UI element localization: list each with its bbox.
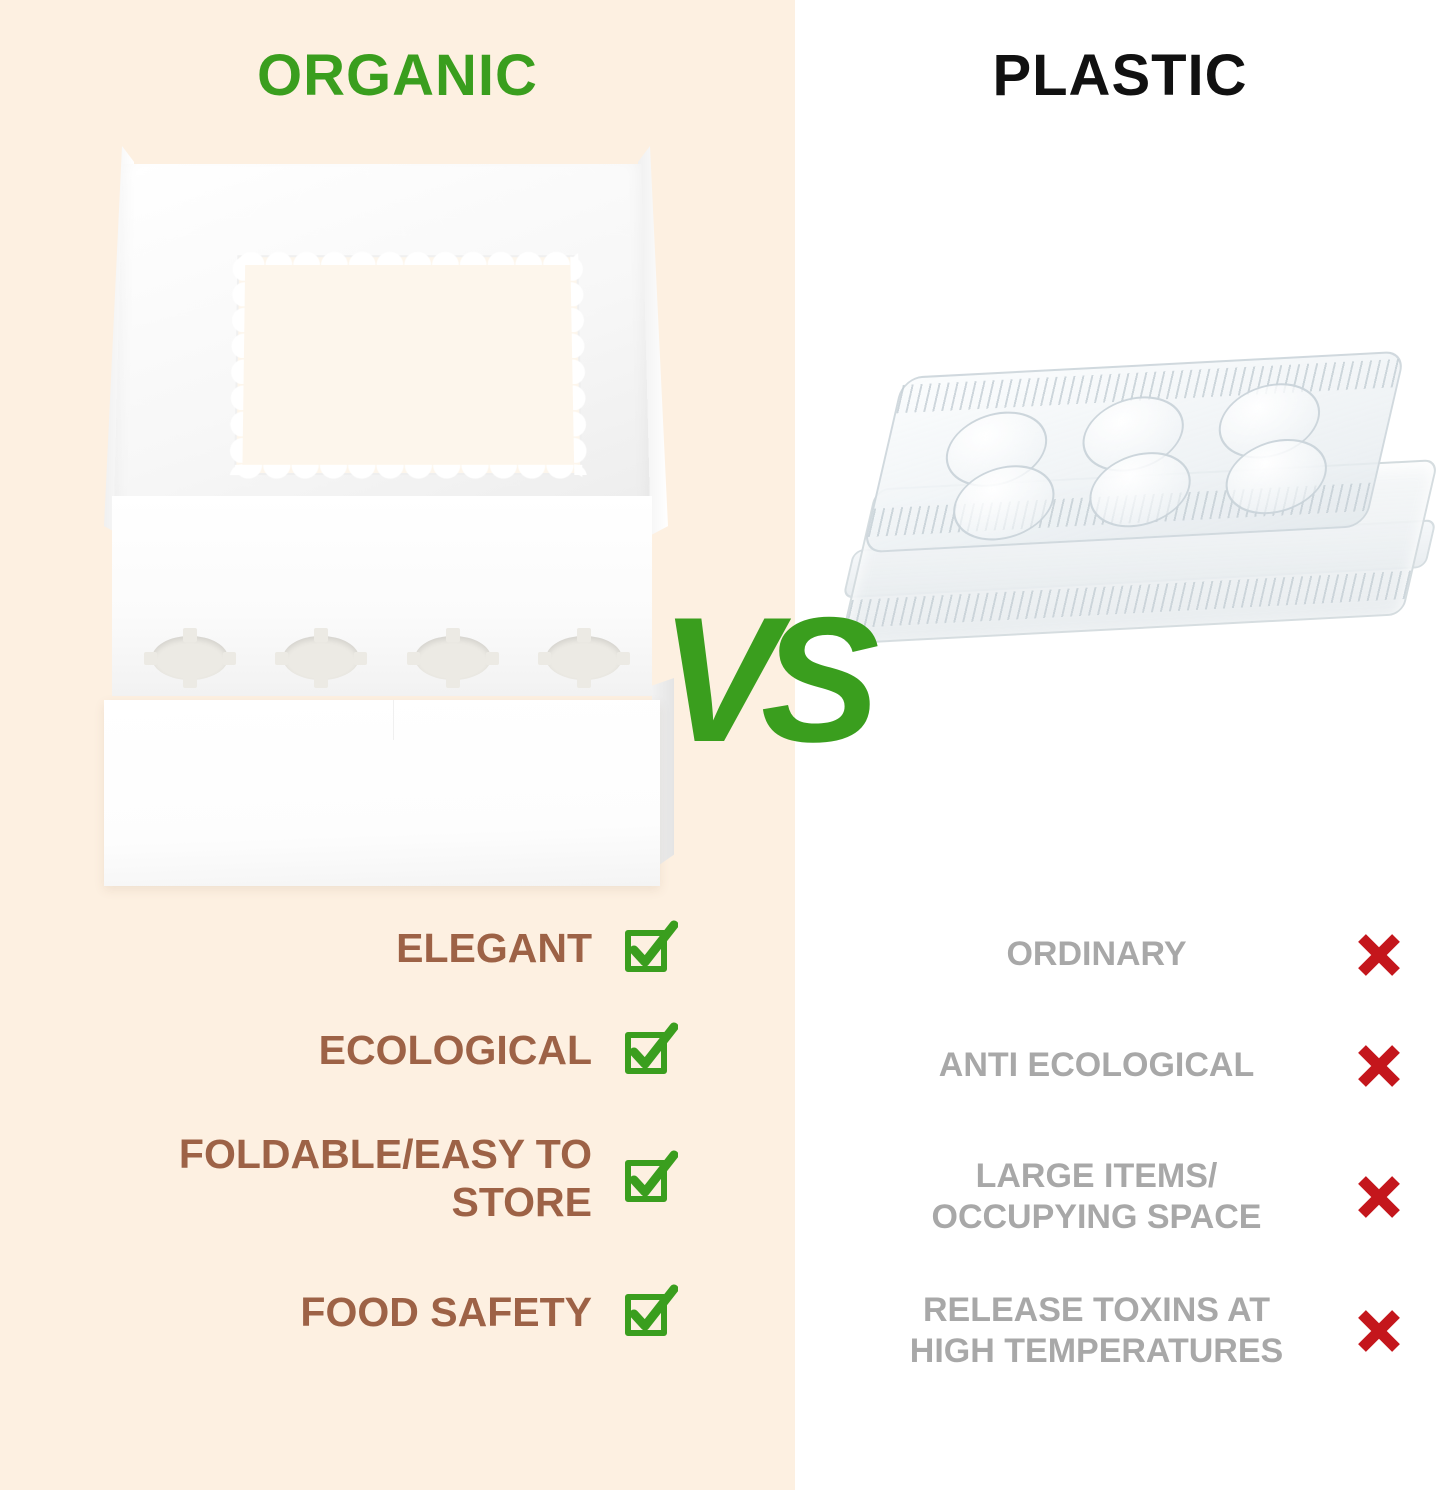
cross-icon: [1348, 1035, 1410, 1097]
cupcake-hole: [415, 636, 491, 680]
cupcake-hole: [152, 636, 228, 680]
feature-label: RELEASE TOXINS AT HIGH TEMPERATURES: [865, 1290, 1348, 1373]
organic-product-image: [96, 138, 676, 898]
plastic-title: PLASTIC: [795, 42, 1445, 109]
box-front-wall: [104, 700, 660, 886]
cupcake-hole: [283, 636, 359, 680]
feature-label: FOOD SAFETY: [60, 1288, 618, 1336]
feature-label: FOLDABLE/EASY TO STORE: [60, 1130, 618, 1227]
check-icon: [618, 917, 680, 979]
feature-row: ANTI ECOLOGICAL: [865, 1010, 1410, 1122]
feature-label: LARGE ITEMS/ OCCUPYING SPACE: [865, 1156, 1348, 1239]
feature-row: ORDINARY: [865, 900, 1410, 1010]
cross-icon: [1348, 924, 1410, 986]
plastic-feature-list: ORDINARY ANTI ECOLOGICAL LARGE ITEMS/ OC…: [865, 900, 1410, 1390]
cross-icon: [1348, 1300, 1410, 1362]
box-lid: [113, 164, 651, 543]
feature-row: FOOD SAFETY: [60, 1252, 680, 1372]
comparison-infographic: ORGANIC PLASTIC: [0, 0, 1445, 1490]
plastic-product-image: [837, 330, 1433, 690]
window-wave-right: [570, 255, 588, 475]
cross-icon: [1348, 1166, 1410, 1228]
box-window-cutout: [236, 257, 580, 473]
organic-title: ORGANIC: [0, 42, 795, 109]
clamshell-ribs: [845, 571, 1411, 629]
check-icon: [618, 1281, 680, 1343]
organic-feature-list: ELEGANT ECOLOGICAL FOLDABLE/EASY TO STOR…: [60, 900, 680, 1372]
feature-row: ECOLOGICAL: [60, 996, 680, 1104]
feature-row: FOLDABLE/EASY TO STORE: [60, 1104, 680, 1252]
clamshell-lid: [862, 351, 1406, 554]
feature-label: ANTI ECOLOGICAL: [865, 1045, 1348, 1086]
feature-label: ELEGANT: [60, 924, 618, 972]
versus-badge: VS: [660, 585, 880, 775]
cupcake-hole: [546, 636, 622, 680]
window-wave-left: [228, 255, 245, 475]
feature-row: ELEGANT: [60, 900, 680, 996]
cupcake-insert-row: [152, 628, 622, 688]
feature-row: RELEASE TOXINS AT HIGH TEMPERATURES: [865, 1272, 1410, 1390]
check-icon: [618, 1019, 680, 1081]
check-icon: [618, 1147, 680, 1209]
feature-label: ORDINARY: [865, 934, 1348, 975]
feature-label: ECOLOGICAL: [60, 1026, 618, 1074]
feature-row: LARGE ITEMS/ OCCUPYING SPACE: [865, 1122, 1410, 1272]
